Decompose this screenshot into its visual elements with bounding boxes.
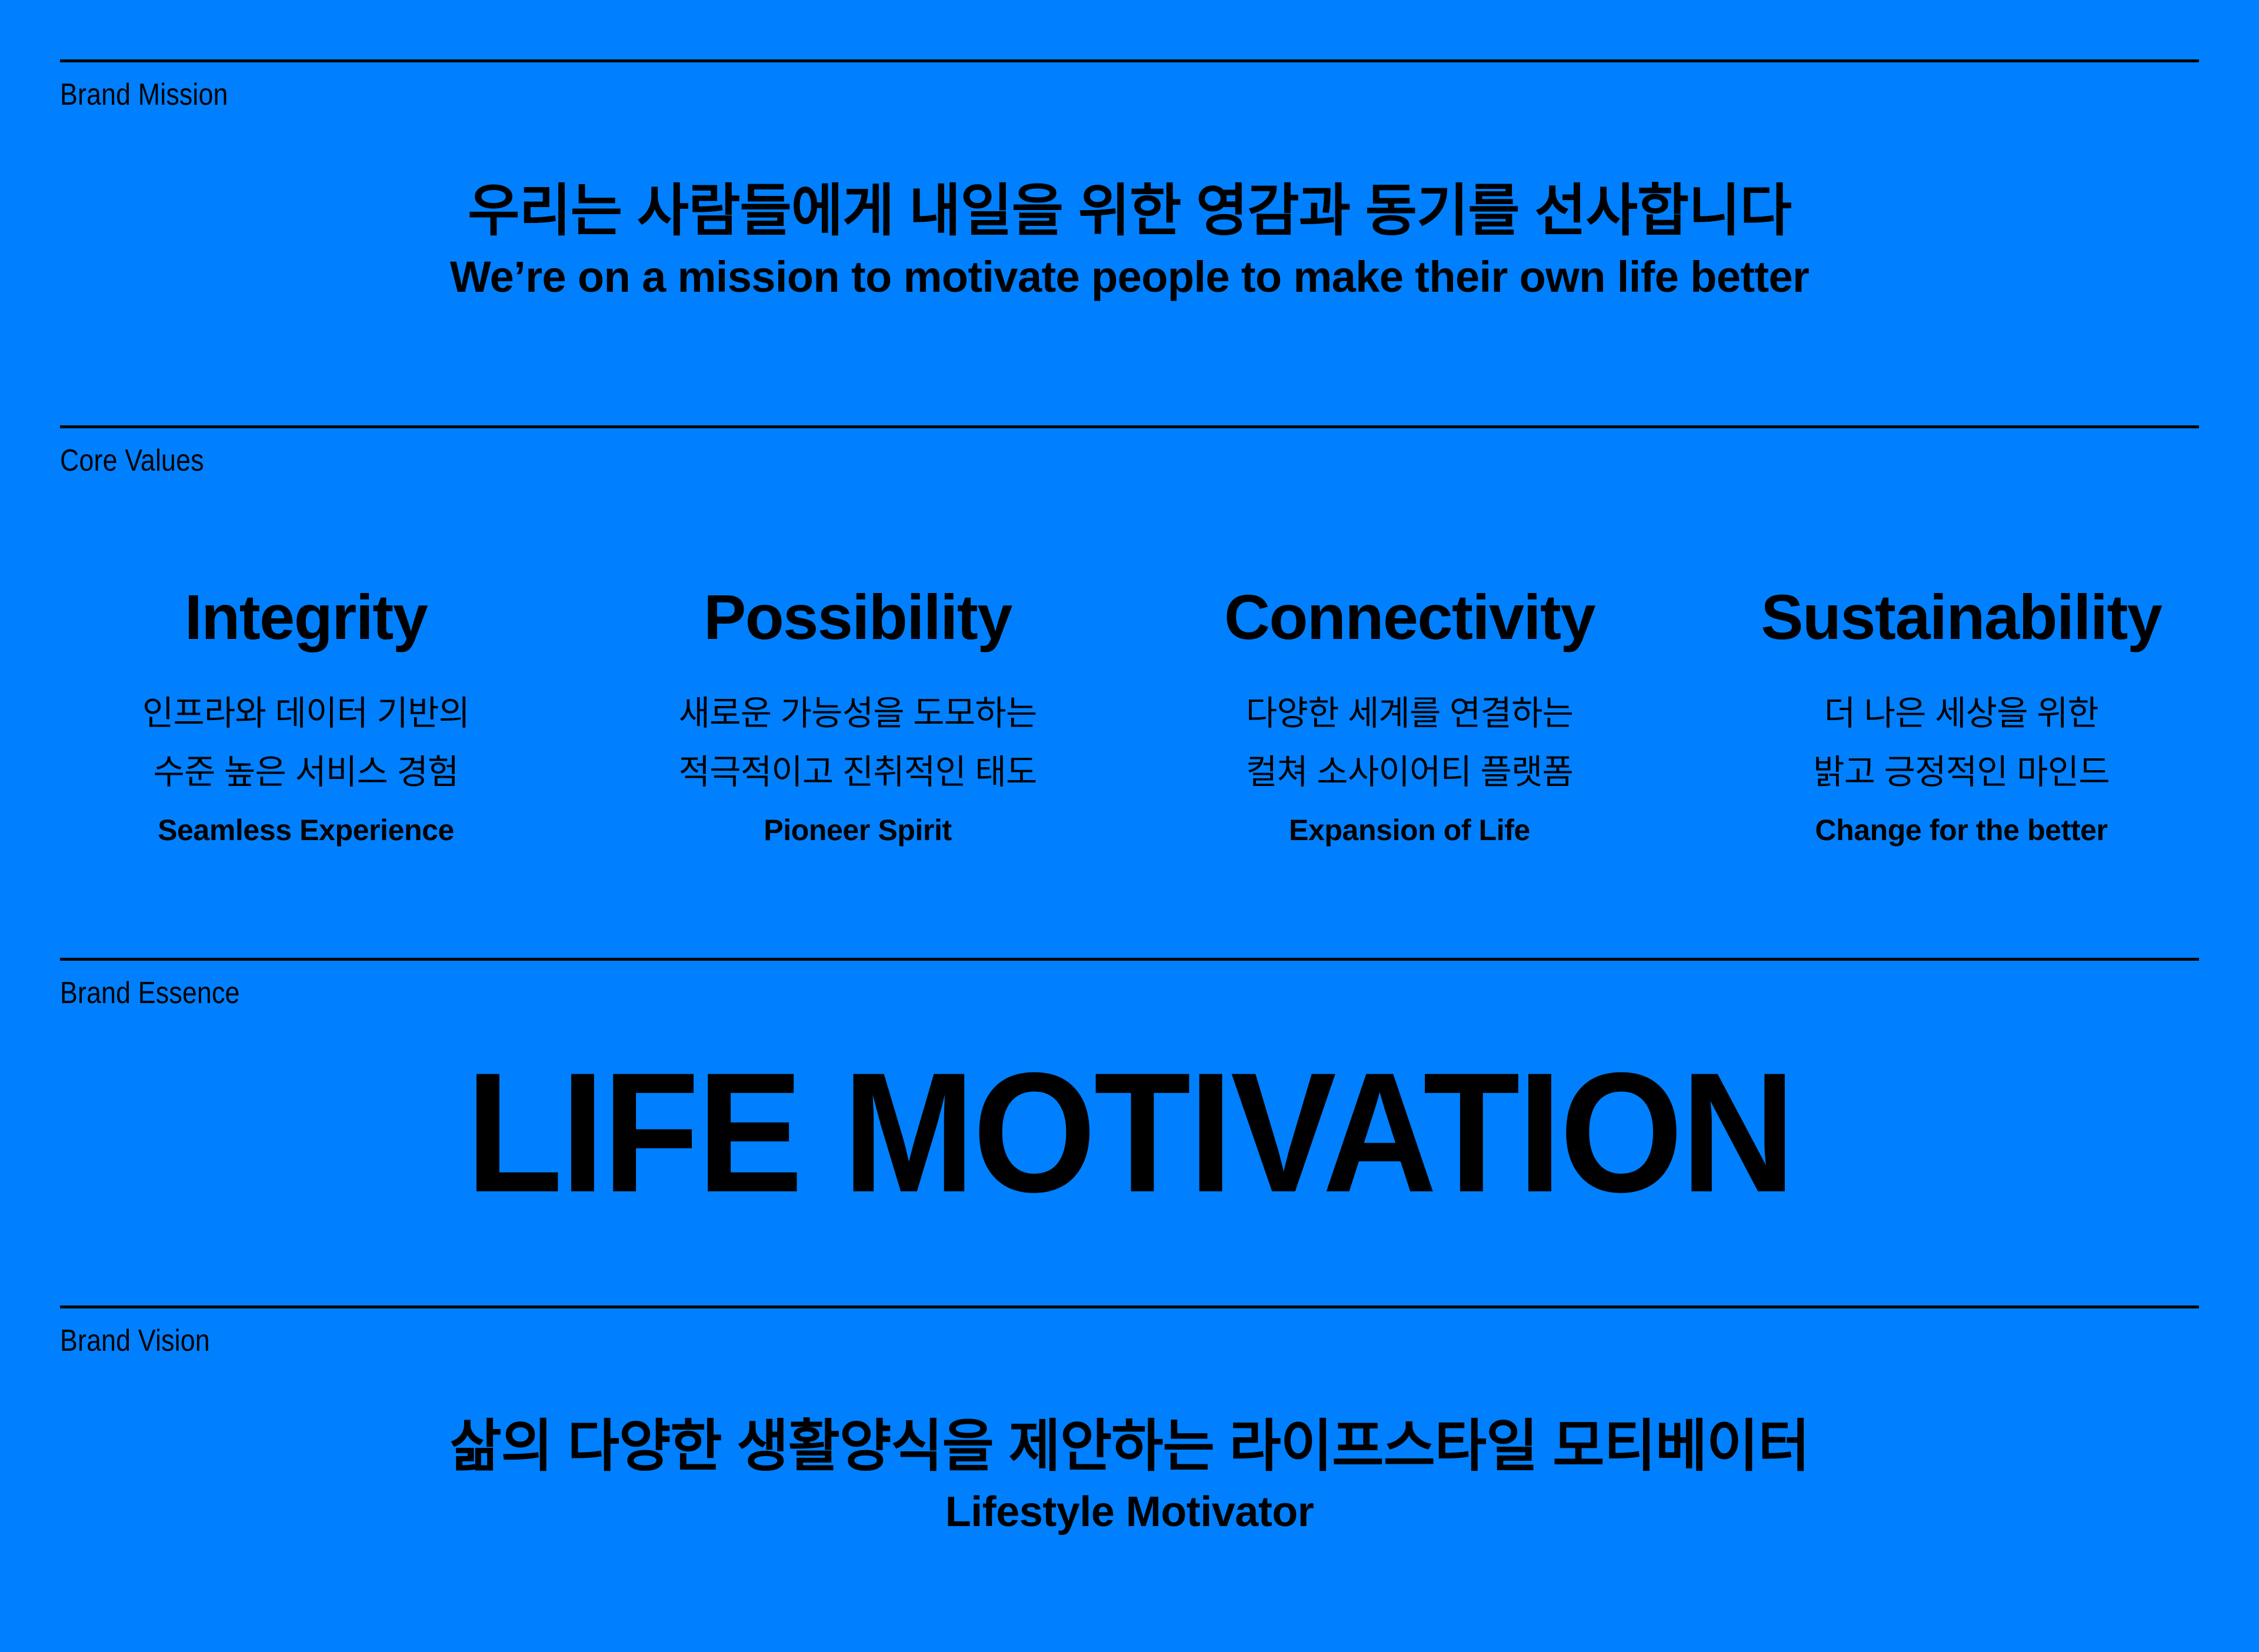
brand-essence-wordmark: LIFE MOTIVATION — [0, 1047, 2259, 1218]
section-label-brand-vision: Brand Vision — [60, 1325, 210, 1356]
core-value-description-kr-line2: 적극적이고 진취적인 태도 — [617, 745, 1099, 800]
divider-brand-vision — [60, 1305, 2199, 1308]
core-value-title: Sustainability — [1720, 585, 2203, 649]
brand-vision-headline-kr: 삶의 다양한 생활양식을 제안하는 라이프스타일 모티베이터 — [0, 1415, 2259, 1478]
core-value-integrity: Integrity 인프라와 데이터 기반의 수준 높은 서비스 경험 Seam… — [65, 585, 547, 847]
divider-brand-mission — [60, 59, 2199, 62]
core-value-description-kr-line1: 다양한 세계를 연결하는 — [1168, 687, 1651, 741]
section-label-core-values: Core Values — [60, 445, 204, 476]
core-value-title: Integrity — [65, 585, 547, 649]
core-value-connectivity: Connectivity 다양한 세계를 연결하는 컬쳐 소사이어티 플랫폼 E… — [1168, 585, 1651, 847]
core-value-description-kr-line2: 수준 높은 서비스 경험 — [65, 745, 547, 800]
core-value-tagline-en: Change for the better — [1720, 814, 2203, 847]
core-value-tagline-en: Expansion of Life — [1168, 814, 1651, 847]
core-value-description-kr-line2: 밝고 긍정적인 마인드 — [1720, 745, 2203, 800]
core-value-sustainability: Sustainability 더 나은 세상을 위한 밝고 긍정적인 마인드 C… — [1720, 585, 2203, 847]
brand-essence-wordmark-text: LIFE MOTIVATION — [466, 1047, 1793, 1218]
core-values-row: Integrity 인프라와 데이터 기반의 수준 높은 서비스 경험 Seam… — [60, 585, 2199, 847]
core-value-description-kr-line2: 컬쳐 소사이어티 플랫폼 — [1168, 745, 1651, 800]
brand-mission-headline-kr: 우리는 사람들에게 내일을 위한 영감과 동기를 선사합니다 — [0, 179, 2259, 243]
section-label-brand-mission: Brand Mission — [60, 79, 228, 110]
section-label-brand-essence: Brand Essence — [60, 978, 240, 1008]
core-value-tagline-en: Seamless Experience — [65, 814, 547, 847]
core-value-title: Possibility — [617, 585, 1099, 649]
core-value-possibility: Possibility 새로운 가능성을 도모하는 적극적이고 진취적인 태도 … — [617, 585, 1099, 847]
core-value-tagline-en: Pioneer Spirit — [617, 814, 1099, 847]
core-value-description-kr-line1: 새로운 가능성을 도모하는 — [617, 687, 1099, 741]
core-value-title: Connectivity — [1168, 585, 1651, 649]
brand-guidelines-page: Brand Mission 우리는 사람들에게 내일을 위한 영감과 동기를 선… — [0, 0, 2259, 1652]
divider-brand-essence — [60, 958, 2199, 961]
core-value-description-kr-line1: 인프라와 데이터 기반의 — [65, 687, 547, 741]
brand-mission-headline-en: We’re on a mission to motivate people to… — [0, 253, 2259, 302]
brand-vision-headline-en: Lifestyle Motivator — [0, 1488, 2259, 1536]
divider-core-values — [60, 425, 2199, 428]
core-value-description-kr-line1: 더 나은 세상을 위한 — [1720, 687, 2203, 741]
